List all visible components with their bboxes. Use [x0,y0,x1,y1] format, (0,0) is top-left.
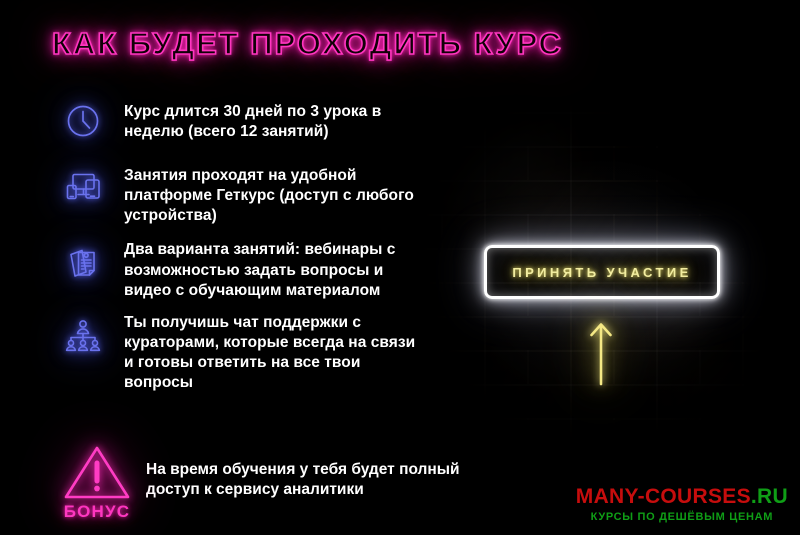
logo-name: MANY-COURSES [576,485,751,508]
page-title: КАК БУДЕТ ПРОХОДИТЬ КУРС [52,26,563,62]
clock-icon [60,98,106,144]
list-item: Ты получишь чат поддержки с кураторами, … [60,311,420,394]
join-button[interactable]: ПРИНЯТЬ УЧАСТИЕ [484,245,720,299]
site-logo: MANY-COURSES.RU КУРСЫ ПО ДЕШЁВЫМ ЦЕНАМ [576,486,788,523]
logo-tld: .RU [751,485,788,508]
bonus-block: БОНУС На время обучения у тебя будет пол… [58,443,466,522]
list-item: Два варианта занятий: вебинары с возможн… [60,238,420,300]
list-item-label: Занятия проходят на удобной платформе Ге… [124,166,420,226]
list-item: Курс длится 30 дней по 3 урока в неделю … [60,97,420,144]
list-item-label: Курс длится 30 дней по 3 урока в неделю … [124,102,420,142]
org-chart-icon [60,312,106,358]
join-button-label: ПРИНЯТЬ УЧАСТИЕ [512,265,691,280]
bonus-label: БОНУС [64,502,131,522]
logo-tagline: КУРСЫ ПО ДЕШЁВЫМ ЦЕНАМ [576,511,788,523]
promo-slide: КАК БУДЕТ ПРОХОДИТЬ КУРС Курс длится 30 … [0,0,800,535]
list-item: Занятия проходят на удобной платформе Ге… [60,163,420,226]
logo-wordmark: MANY-COURSES.RU [576,486,788,507]
bonus-badge: БОНУС [58,443,136,522]
devices-icon [60,164,106,210]
documents-icon [60,239,106,285]
bonus-description: На время обучения у тебя будет полный до… [146,460,466,500]
list-item-label: Два варианта занятий: вебинары с возможн… [124,240,420,300]
list-item-label: Ты получишь чат поддержки с кураторами, … [124,313,420,394]
arrow-up-icon [585,320,617,386]
warning-triangle-icon [62,443,132,501]
feature-list: Курс длится 30 дней по 3 урока в неделю … [60,97,420,393]
